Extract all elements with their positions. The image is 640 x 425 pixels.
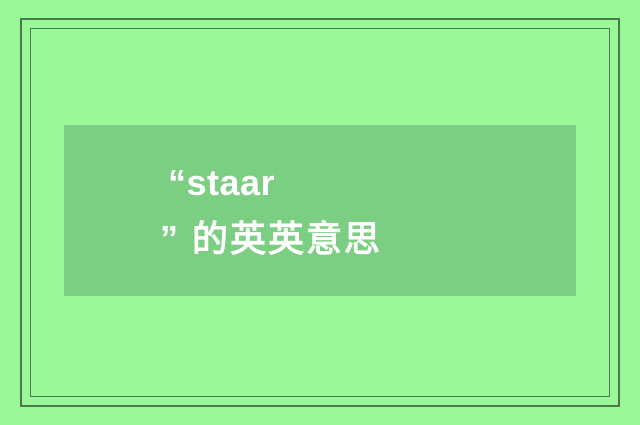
- poster-canvas: “staar ” 的英英意思: [0, 0, 640, 425]
- title-banner-panel: “staar ” 的英英意思: [64, 125, 576, 296]
- banner-title-line-2: ” 的英英意思: [160, 211, 480, 267]
- banner-title: “staar ” 的英英意思: [160, 155, 480, 267]
- banner-title-line-1: “staar: [160, 155, 480, 211]
